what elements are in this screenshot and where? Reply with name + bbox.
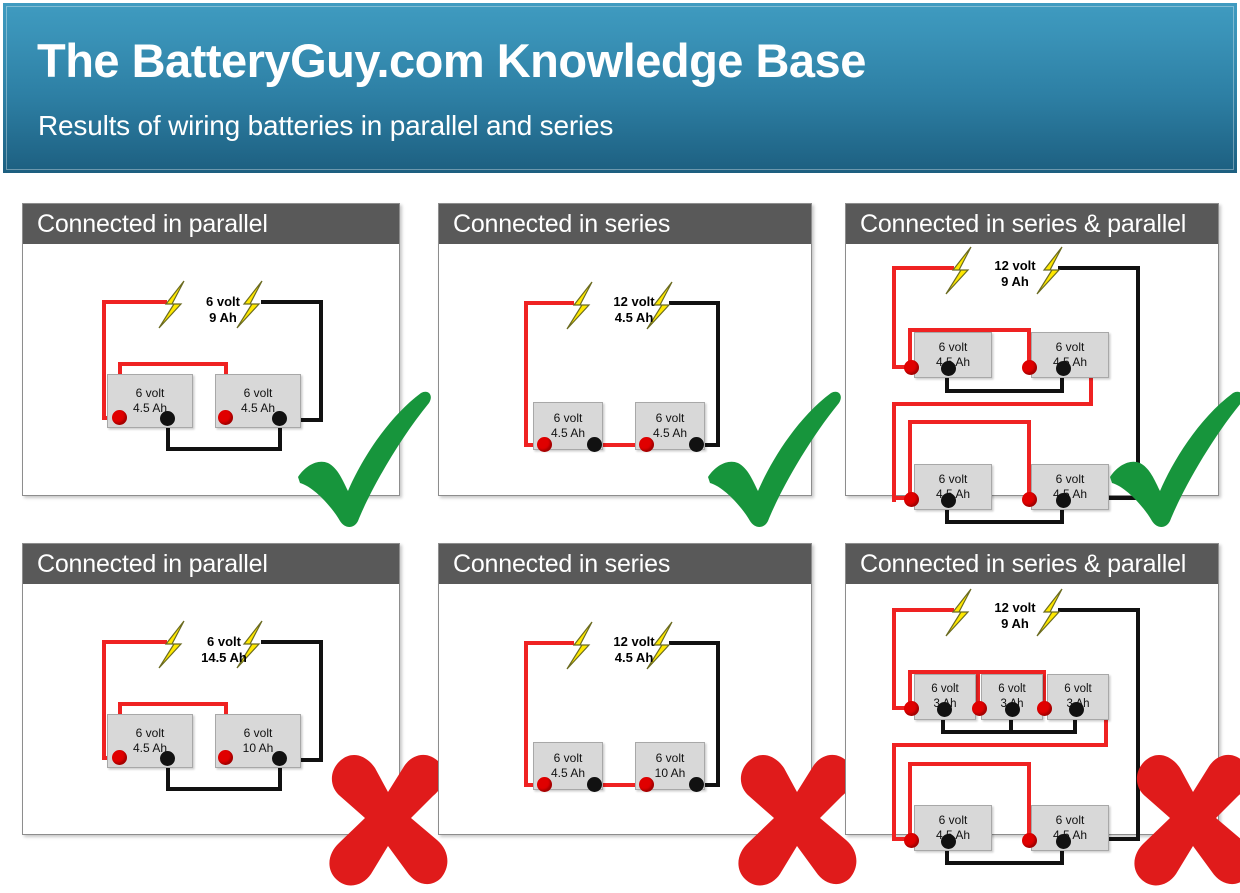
panel-series-parallel-wrong: Connected in series & parallel (845, 543, 1219, 835)
battery-r1c2-positive-terminal (972, 701, 987, 716)
battery-2-negative-terminal (689, 777, 704, 792)
battery-ah: 10 Ah (243, 741, 274, 755)
battery-volt: 6 volt (244, 386, 273, 400)
result-rating: 6 volt 9 Ah (183, 294, 263, 326)
wire-row1-negative-link-a (941, 730, 1013, 734)
wiring-diagram-series-wrong: 6 volt 4.5 Ah 6 volt 10 Ah 12 (439, 584, 811, 834)
panel-diagram-area: 6 volt 4.5 Ah 6 volt 4.5 Ah (23, 244, 399, 495)
wire-positive-vertical-left (892, 266, 896, 369)
panel-header: Connected in series & parallel (846, 204, 1218, 244)
battery-ah: 10 Ah (655, 766, 686, 780)
panel-title: Connected in series (453, 210, 670, 239)
wiring-diagram-series-parallel-correct: 6 volt 4.5 Ah 6 volt 4.5 Ah 6 volt 4.5 A… (846, 244, 1218, 495)
battery-2-negative-terminal (272, 751, 287, 766)
wire-positive-vertical-left (102, 300, 106, 420)
wiring-diagram-series-parallel-wrong: 6 volt 3 Ah 6 volt 3 Ah 6 volt 3 Ah (846, 584, 1218, 834)
result-ah: 9 Ah (1001, 274, 1029, 289)
wiring-diagram-series-correct: 6 volt 4.5 Ah 6 volt 4.5 Ah 12 (439, 244, 811, 495)
wire-parallel-positive-link (118, 362, 228, 366)
wire-negative-vertical-right (716, 641, 720, 787)
battery-volt: 6 volt (656, 411, 685, 425)
wire-parallel-negative-link (166, 447, 282, 451)
wire-row2-positive-vertical (892, 402, 896, 502)
battery-2-positive-terminal (639, 437, 654, 452)
battery-r1c2-negative-terminal (1056, 361, 1071, 376)
battery-volt: 6 volt (931, 683, 959, 695)
result-volt: 12 volt (613, 294, 654, 309)
battery-2-positive-terminal (639, 777, 654, 792)
wire-crosslink-bottom (892, 743, 1108, 747)
panel-series-wrong: Connected in series 6 volt 4.5 Ah 6 volt (438, 543, 812, 835)
battery-volt: 6 volt (136, 726, 165, 740)
battery-r1c2-negative-terminal (1005, 702, 1020, 717)
battery-2-negative-terminal (272, 411, 287, 426)
battery-volt: 6 volt (554, 751, 583, 765)
result-ah: 9 Ah (1001, 616, 1029, 631)
wire-row2-positive-rail (908, 762, 1031, 766)
panel-parallel-wrong: Connected in parallel 6 volt 4.5 Ah (22, 543, 400, 835)
page-title: The BatteryGuy.com Knowledge Base (37, 33, 866, 88)
panel-header: Connected in parallel (23, 544, 399, 584)
wire-positive-vertical-left (102, 640, 106, 760)
result-ah: 9 Ah (209, 310, 237, 325)
result-rating: 12 volt 4.5 Ah (591, 294, 677, 326)
panel-diagram-area: 6 volt 3 Ah 6 volt 3 Ah 6 volt 3 Ah (846, 584, 1218, 834)
wire-row1-negative-link (945, 389, 1064, 393)
wiring-diagram-parallel-correct: 6 volt 4.5 Ah 6 volt 4.5 Ah (23, 244, 399, 495)
battery-volt: 6 volt (1064, 683, 1092, 695)
wire-row2-negative-link (945, 861, 1064, 865)
battery-volt: 6 volt (939, 340, 968, 354)
panel-title: Connected in parallel (37, 550, 268, 579)
battery-1-positive-terminal (112, 410, 127, 425)
result-volt: 12 volt (994, 258, 1035, 273)
panel-title: Connected in series (453, 550, 670, 579)
battery-ah: 4.5 Ah (551, 426, 585, 440)
page-banner: The BatteryGuy.com Knowledge Base Result… (0, 0, 1240, 176)
panel-diagram-area: 6 volt 4.5 Ah 6 volt 4.5 Ah 12 (439, 244, 811, 495)
battery-1-positive-terminal (537, 777, 552, 792)
panel-header: Connected in parallel (23, 204, 399, 244)
wire-negative-vertical-right (319, 640, 323, 762)
wire-row2-negative-link (945, 520, 1064, 524)
battery-1-negative-terminal (587, 437, 602, 452)
battery-r2c2-negative-terminal (1056, 834, 1071, 849)
result-rating: 12 volt 9 Ah (974, 600, 1056, 632)
panel-header: Connected in series (439, 544, 811, 584)
battery-1-positive-terminal (537, 437, 552, 452)
wire-positive-vertical-left (524, 641, 528, 787)
page-subtitle: Results of wiring batteries in parallel … (38, 110, 613, 142)
panel-diagram-area: 6 volt 4.5 Ah 6 volt 10 Ah 12 (439, 584, 811, 834)
battery-2-positive-terminal (218, 410, 233, 425)
wire-row2-positive-link (908, 420, 1031, 424)
panel-title: Connected in series & parallel (860, 550, 1186, 579)
battery-ah: 4.5 Ah (653, 426, 687, 440)
battery-r1c3-positive-terminal (1037, 701, 1052, 716)
wire-row2-positive-drop-left (908, 762, 912, 841)
battery-r2c2-positive-terminal (1022, 833, 1037, 848)
wire-row2-positive-drop-left (908, 420, 912, 500)
battery-1-negative-terminal (587, 777, 602, 792)
result-volt: 6 volt (207, 634, 241, 649)
wire-parallel-negative-link (166, 787, 282, 791)
result-volt: 12 volt (994, 600, 1035, 615)
result-ah: 4.5 Ah (615, 310, 654, 325)
battery-volt: 6 volt (244, 726, 273, 740)
wire-negative-vertical-right (319, 300, 323, 422)
wire-crosslink-bottom (892, 402, 1093, 406)
battery-r1c1-negative-terminal (941, 361, 956, 376)
battery-volt: 6 volt (136, 386, 165, 400)
battery-1-positive-terminal (112, 750, 127, 765)
battery-volt: 6 volt (554, 411, 583, 425)
battery-2-positive-terminal (218, 750, 233, 765)
battery-r1c1-positive-terminal (904, 701, 919, 716)
panel-diagram-area: 6 volt 4.5 Ah 6 volt 4.5 Ah 6 volt 4.5 A… (846, 244, 1218, 495)
panel-parallel-correct: Connected in parallel 6 volt (22, 203, 400, 496)
wire-negative-vertical-right (716, 301, 720, 447)
result-ah: 14.5 Ah (201, 650, 247, 665)
battery-volt: 6 volt (939, 472, 968, 486)
panel-diagram-area: 6 volt 4.5 Ah 6 volt 10 Ah 6 v (23, 584, 399, 834)
wire-negative-vertical-right (1136, 608, 1140, 839)
battery-volt: 6 volt (656, 751, 685, 765)
wire-negative-vertical-right (1136, 266, 1140, 498)
wire-positive-vertical-left (892, 608, 896, 710)
wiring-diagram-parallel-wrong: 6 volt 4.5 Ah 6 volt 10 Ah 6 v (23, 584, 399, 834)
panel-header: Connected in series (439, 204, 811, 244)
wire-row1-negative-link-b (1009, 730, 1077, 734)
battery-r2c1-negative-terminal (941, 834, 956, 849)
result-rating: 12 volt 9 Ah (974, 258, 1056, 290)
result-volt: 12 volt (613, 634, 654, 649)
battery-volt: 6 volt (1056, 340, 1085, 354)
battery-1-negative-terminal (160, 751, 175, 766)
battery-r2c1-positive-terminal (904, 492, 919, 507)
wire-row2-positive-vertical (892, 743, 896, 841)
battery-r2c1-positive-terminal (904, 833, 919, 848)
panel-series-parallel-correct: Connected in series & parallel (845, 203, 1219, 496)
wire-positive-vertical-left (524, 301, 528, 447)
battery-volt: 6 volt (998, 683, 1026, 695)
battery-r2c2-positive-terminal (1022, 492, 1037, 507)
panel-header: Connected in series & parallel (846, 544, 1218, 584)
wire-parallel-positive-link (118, 702, 228, 706)
battery-r1c1-positive-terminal (904, 360, 919, 375)
battery-ah: 4.5 Ah (241, 401, 275, 415)
panel-series-correct: Connected in series 6 volt 4.5 Ah 6 (438, 203, 812, 496)
battery-1-negative-terminal (160, 411, 175, 426)
battery-volt: 6 volt (1056, 813, 1085, 827)
result-rating: 12 volt 4.5 Ah (591, 634, 677, 666)
battery-r2c1-negative-terminal (941, 493, 956, 508)
battery-volt: 6 volt (1056, 472, 1085, 486)
result-ah: 4.5 Ah (615, 650, 654, 665)
result-rating: 6 volt 14.5 Ah (181, 634, 267, 666)
battery-ah: 4.5 Ah (551, 766, 585, 780)
battery-r1c1-negative-terminal (937, 702, 952, 717)
battery-2-negative-terminal (689, 437, 704, 452)
result-volt: 6 volt (206, 294, 240, 309)
panel-title: Connected in series & parallel (860, 210, 1186, 239)
battery-r2c2-negative-terminal (1056, 493, 1071, 508)
battery-r1c3-negative-terminal (1069, 702, 1084, 717)
battery-r1c2-positive-terminal (1022, 360, 1037, 375)
panel-title: Connected in parallel (37, 210, 268, 239)
battery-volt: 6 volt (939, 813, 968, 827)
